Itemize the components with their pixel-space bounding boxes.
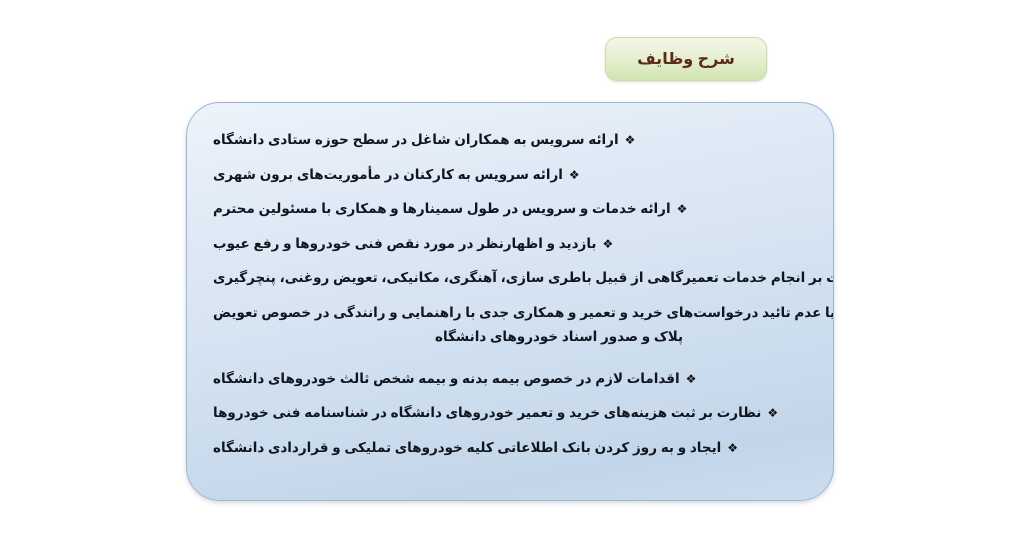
list-item: ❖ اقدامات لازم در خصوص بیمه بدنه و بیمه … bbox=[213, 372, 807, 386]
four-pointed-star-bullet-icon: ❖ bbox=[569, 169, 580, 181]
four-pointed-star-bullet-icon: ❖ bbox=[602, 238, 613, 250]
list-item: ❖ نظارت بر انجام خدمات تعمیرگاهی از قبیل… bbox=[213, 271, 807, 285]
four-pointed-star-bullet-icon: ❖ bbox=[727, 442, 738, 454]
list-item-text: نظارت بر انجام خدمات تعمیرگاهی از قبیل ب… bbox=[213, 271, 834, 285]
page-title: شرح وظایف bbox=[637, 49, 735, 69]
four-pointed-star-bullet-icon: ❖ bbox=[767, 407, 778, 419]
four-pointed-star-bullet-icon: ❖ bbox=[686, 373, 697, 385]
list-item-text: اقدامات لازم در خصوص بیمه بدنه و بیمه شخ… bbox=[213, 372, 680, 386]
duties-list: ❖ ارائه سرویس به همکاران شاغل در سطح حوز… bbox=[213, 133, 807, 454]
list-item-text: ارائه سرویس به کارکنان در مأموریت‌های بر… bbox=[213, 168, 563, 182]
list-item-text: ارائه سرویس به همکاران شاغل در سطح حوزه … bbox=[213, 133, 619, 147]
list-item: ❖ ایجاد و به روز کردن بانک اطلاعاتی کلیه… bbox=[213, 441, 807, 455]
page-canvas: شرح وظایف ❖ ارائه سرویس به همکاران شاغل … bbox=[0, 0, 1010, 556]
four-pointed-star-bullet-icon: ❖ bbox=[625, 134, 636, 146]
list-item: ❖ نظارت بر ثبت هزینه‌های خرید و تعمیر خو… bbox=[213, 406, 807, 420]
duties-panel: ❖ ارائه سرویس به همکاران شاغل در سطح حوز… bbox=[186, 102, 834, 501]
list-item: ❖ بازدید و اظهارنظر در مورد نقص فنی خودر… bbox=[213, 237, 807, 251]
list-item-text: تائید و یا عدم تائید درخواست‌های خرید و … bbox=[213, 306, 834, 320]
list-item-text: ایجاد و به روز کردن بانک اطلاعاتی کلیه خ… bbox=[213, 441, 721, 455]
list-item-text: نظارت بر ثبت هزینه‌های خرید و تعمیر خودر… bbox=[213, 406, 761, 420]
list-item: ❖ ارائه سرویس به کارکنان در مأموریت‌های … bbox=[213, 168, 807, 182]
list-item: ❖ تائید و یا عدم تائید درخواست‌های خرید … bbox=[213, 306, 807, 344]
list-item: ❖ ارائه خدمات و سرویس در طول سمینارها و … bbox=[213, 202, 807, 216]
list-item: ❖ ارائه سرویس به همکاران شاغل در سطح حوز… bbox=[213, 133, 807, 147]
list-item-text: بازدید و اظهارنظر در مورد نقص فنی خودروه… bbox=[213, 237, 596, 251]
section-title-badge: شرح وظایف bbox=[605, 37, 767, 81]
list-item-continuation: پلاک و صدور اسناد خودروهای دانشگاه bbox=[213, 330, 807, 344]
four-pointed-star-bullet-icon: ❖ bbox=[677, 203, 688, 215]
list-item-text: ارائه خدمات و سرویس در طول سمینارها و هم… bbox=[213, 202, 671, 216]
list-item-text-continued: پلاک و صدور اسناد خودروهای دانشگاه bbox=[213, 330, 683, 344]
